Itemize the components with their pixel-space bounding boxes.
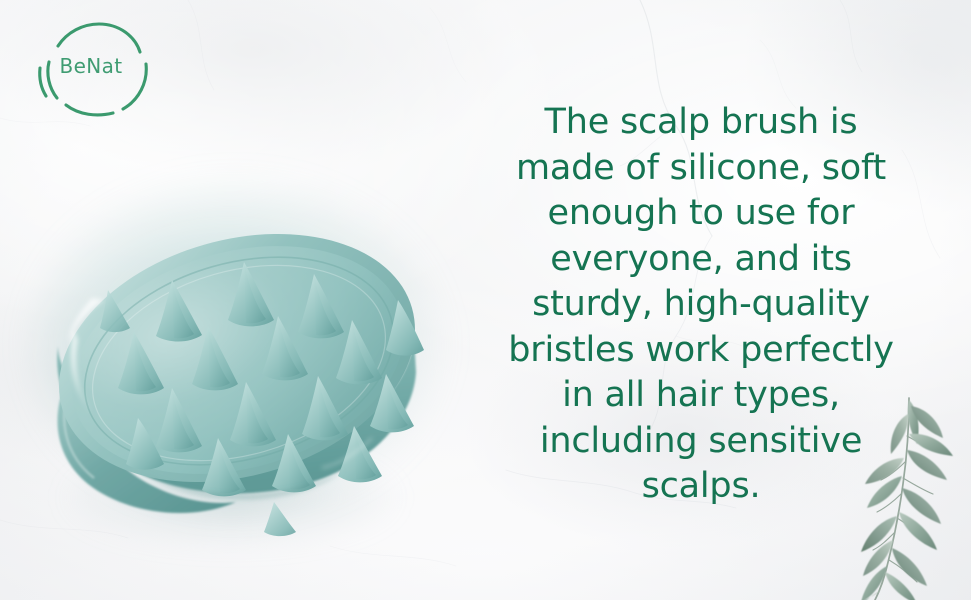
- product-image-scalp-brush: [22, 150, 462, 540]
- copy-line: bristles work perfectly: [492, 328, 910, 374]
- copy-line: The scalp brush is: [492, 100, 910, 146]
- scalp-brush-illustration: [22, 150, 462, 540]
- brand-logo[interactable]: BeNat: [27, 16, 155, 122]
- product-banner: BeNat: [0, 0, 971, 600]
- bristle: [264, 502, 296, 536]
- copy-line: made of silicone, soft: [492, 146, 910, 192]
- brand-logo-text: BeNat: [27, 54, 155, 78]
- copy-line: sturdy, high-quality: [492, 282, 910, 328]
- copy-line: everyone, and its: [492, 237, 910, 283]
- copy-line: enough to use for: [492, 191, 910, 237]
- olive-branch-decoration: [847, 392, 965, 600]
- branch-leaves: [859, 400, 953, 600]
